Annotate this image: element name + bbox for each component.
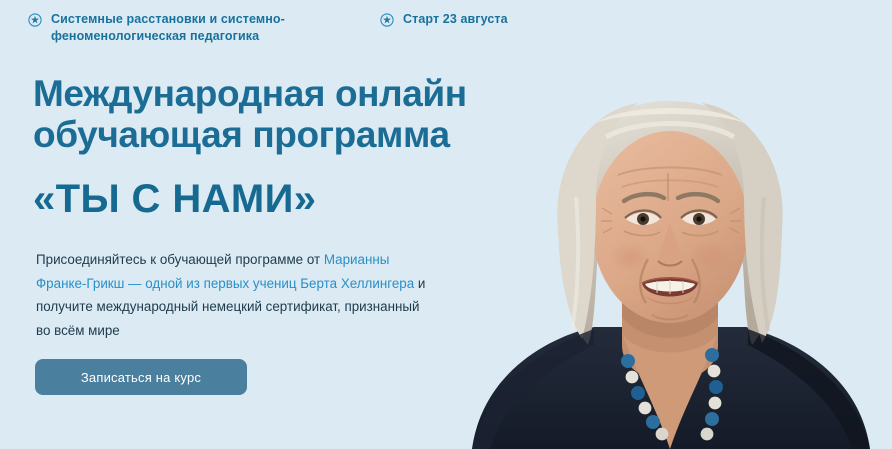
topbar-chip-program-label: Системные расстановки и системно-феномен… — [51, 11, 380, 44]
topbar-chip-program: Системные расстановки и системно-феномен… — [28, 11, 380, 44]
lede-before: Присоединяйтесь к обучающей программе от — [36, 252, 324, 267]
hero-description: Присоединяйтесь к обучающей программе от… — [36, 248, 428, 342]
page-title: Международная онлайн обучающая программа — [33, 73, 553, 155]
headline-line-1: Международная онлайн — [33, 73, 467, 114]
necklace — [621, 348, 723, 440]
hero-section: Системные расстановки и системно-феномен… — [0, 0, 892, 449]
enroll-button[interactable]: Записаться на курс — [35, 359, 247, 395]
topbar-chip-start-date-label: Старт 23 августа — [403, 11, 508, 28]
topbar-chip-start-date: Старт 23 августа — [380, 11, 508, 28]
topbar: Системные расстановки и системно-феномен… — [28, 11, 872, 44]
star-in-circle-icon — [380, 13, 394, 27]
program-name: «ТЫ С НАМИ» — [33, 176, 316, 222]
star-in-circle-icon — [28, 13, 42, 27]
headline-line-2: обучающая программа — [33, 114, 553, 155]
